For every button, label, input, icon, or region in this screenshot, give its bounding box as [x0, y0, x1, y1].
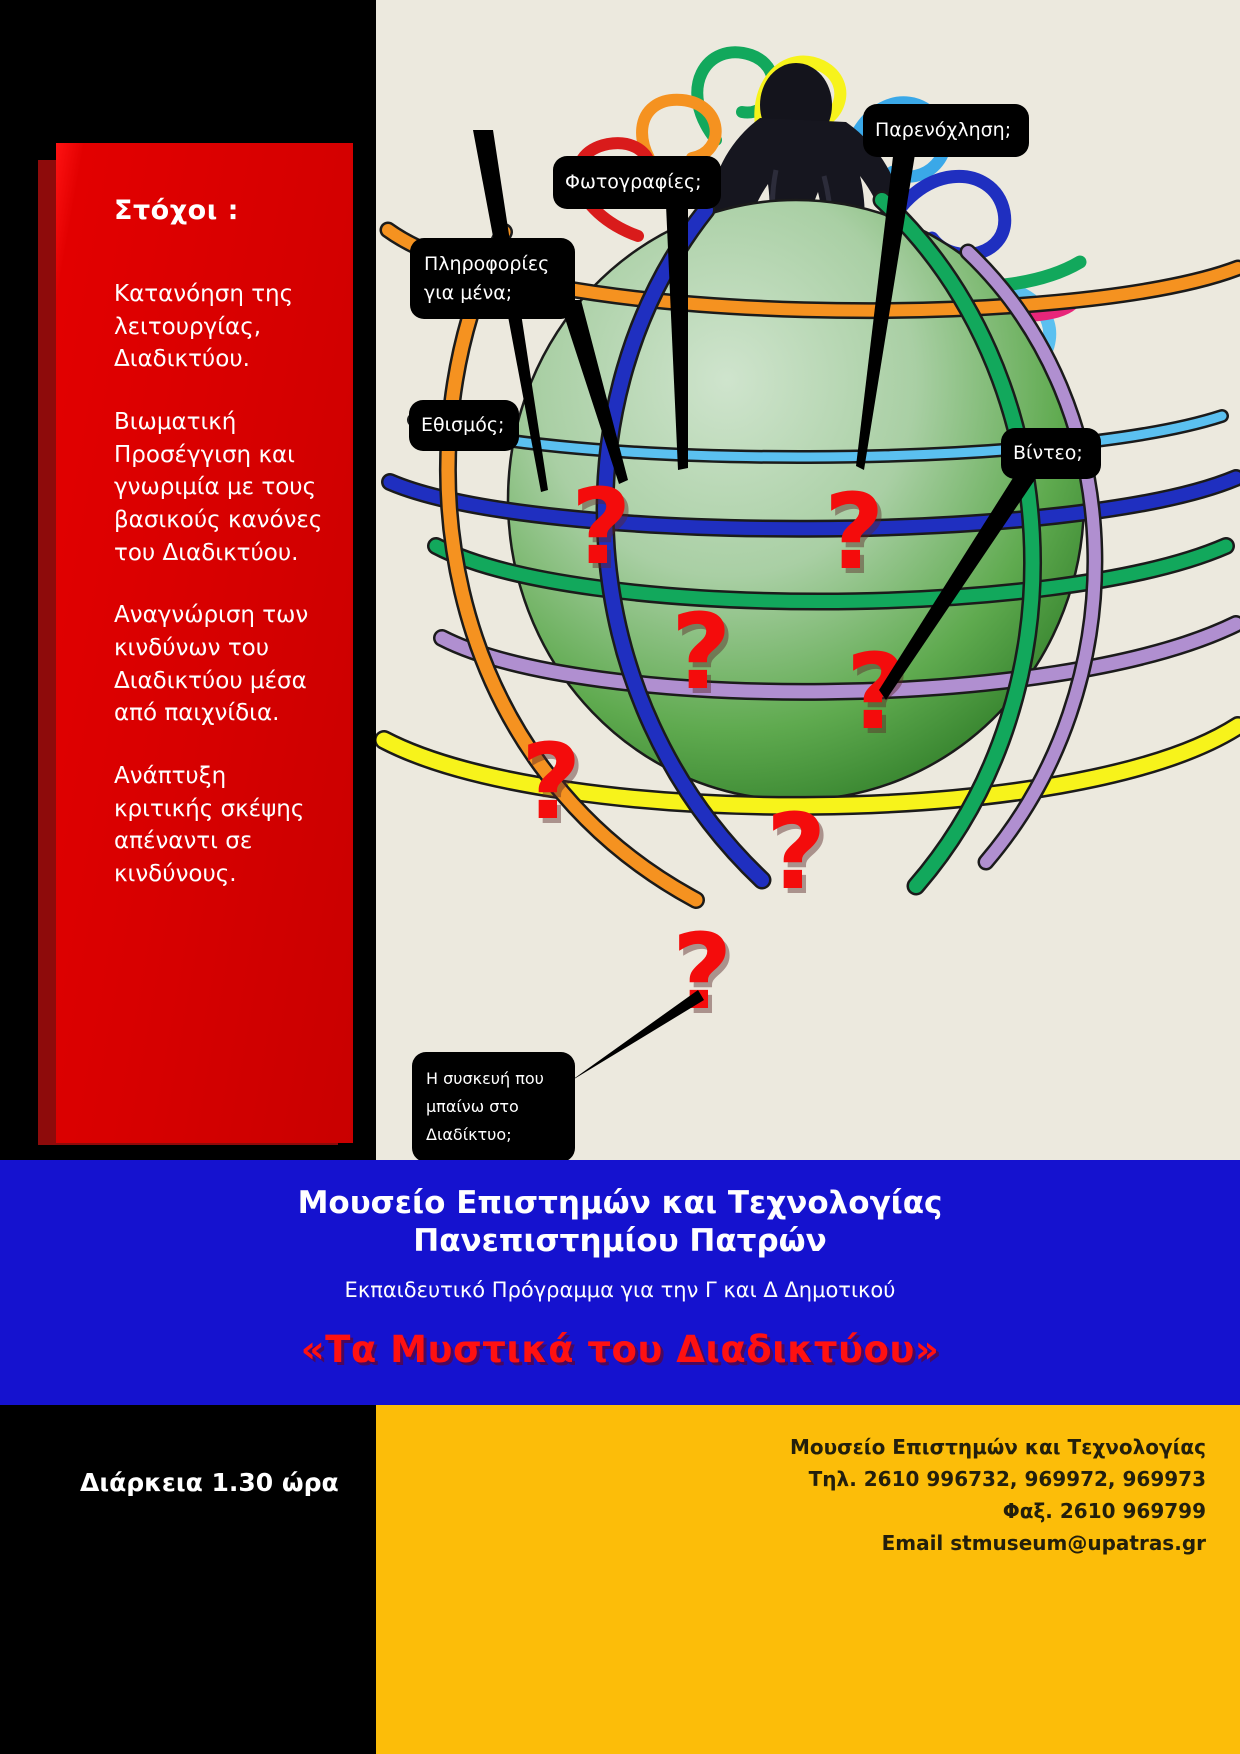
contact-phone: Τηλ. 2610 996732, 969972, 969973 — [790, 1463, 1206, 1495]
contact-email[interactable]: Email stmuseum@upatras.gr — [790, 1527, 1206, 1559]
bubble-info-line2: για μένα; — [424, 279, 561, 308]
goals-title: Στόχοι : — [114, 195, 325, 226]
bubble-device-line1: Η συσκευή που — [426, 1065, 561, 1093]
goals-item-2: Βιωματική Προσέγγιση και γνωριμία με του… — [114, 406, 325, 569]
blue-banner: Μουσείο Επιστημών και Τεχνολογίας Πανεπι… — [0, 1160, 1240, 1405]
organization-line2: Πανεπιστημίου Πατρών — [0, 1222, 1240, 1260]
program-subtitle: Εκπαιδευτικό Πρόγραμμα για την Γ και Δ Δ… — [0, 1278, 1240, 1302]
contact-block: Μουσείο Επιστημών και Τεχνολογίας Τηλ. 2… — [790, 1431, 1206, 1559]
bubble-addiction[interactable]: Εθισμός; — [409, 400, 519, 451]
bubble-photos-text: Φωτογραφίες; — [565, 171, 702, 193]
organization-line1: Μουσείο Επιστημών και Τεχνολογίας — [0, 1184, 1240, 1222]
bubble-info-line1: Πληροφορίες — [424, 250, 561, 279]
bubble-addiction-text: Εθισμός; — [421, 414, 504, 436]
bubble-device[interactable]: Η συσκευή που μπαίνω στο Διαδίκτυο; — [412, 1052, 575, 1160]
goals-item-4: Ανάπτυξη κριτικής σκέψης απέναντι σε κιν… — [114, 760, 325, 891]
artwork-area: ? ? ? ? ? ? ? Παρενόχληση; Φωτογραφίες; … — [376, 0, 1240, 1160]
organization-name: Μουσείο Επιστημών και Τεχνολογίας Πανεπι… — [0, 1184, 1240, 1261]
bubble-harassment-text: Παρενόχληση; — [875, 119, 1011, 141]
pointer-photos — [666, 205, 688, 470]
goals-panel: Στόχοι : Κατανόηση της λειτουργίας, Διαδ… — [56, 143, 353, 1143]
pointer-info — [559, 300, 628, 484]
pointer-harassment — [856, 148, 916, 470]
bubble-video[interactable]: Βίντεο; — [1001, 428, 1101, 479]
bubble-device-line2: μπαίνω στο — [426, 1093, 561, 1121]
contact-fax: Φαξ. 2610 969799 — [790, 1495, 1206, 1527]
bubble-device-line3: Διαδίκτυο; — [426, 1121, 561, 1149]
poster-root: ? ? ? ? ? ? ? Παρενόχληση; Φωτογραφίες; … — [0, 0, 1240, 1754]
pointer-device — [556, 990, 704, 1090]
program-title: «Τα Μυστικά του Διαδικτύου» — [0, 1328, 1240, 1371]
bubble-harassment[interactable]: Παρενόχληση; — [863, 104, 1029, 157]
footer-contact-box: Μουσείο Επιστημών και Τεχνολογίας Τηλ. 2… — [376, 1405, 1240, 1754]
bubble-video-text: Βίντεο; — [1013, 442, 1083, 464]
bubble-pointer-lines — [376, 0, 1240, 1160]
goals-item-3: Αναγνώριση των κινδύνων του Διαδικτύου μ… — [114, 599, 325, 730]
contact-museum: Μουσείο Επιστημών και Τεχνολογίας — [790, 1431, 1206, 1463]
bubble-photos[interactable]: Φωτογραφίες; — [553, 156, 721, 209]
bubble-info-about-me[interactable]: Πληροφορίες για μένα; — [410, 238, 575, 319]
goals-item-1: Κατανόηση της λειτουργίας, Διαδικτύου. — [114, 278, 325, 376]
duration-label: Διάρκεια 1.30 ώρα — [80, 1468, 339, 1497]
pointer-video — [879, 470, 1036, 700]
